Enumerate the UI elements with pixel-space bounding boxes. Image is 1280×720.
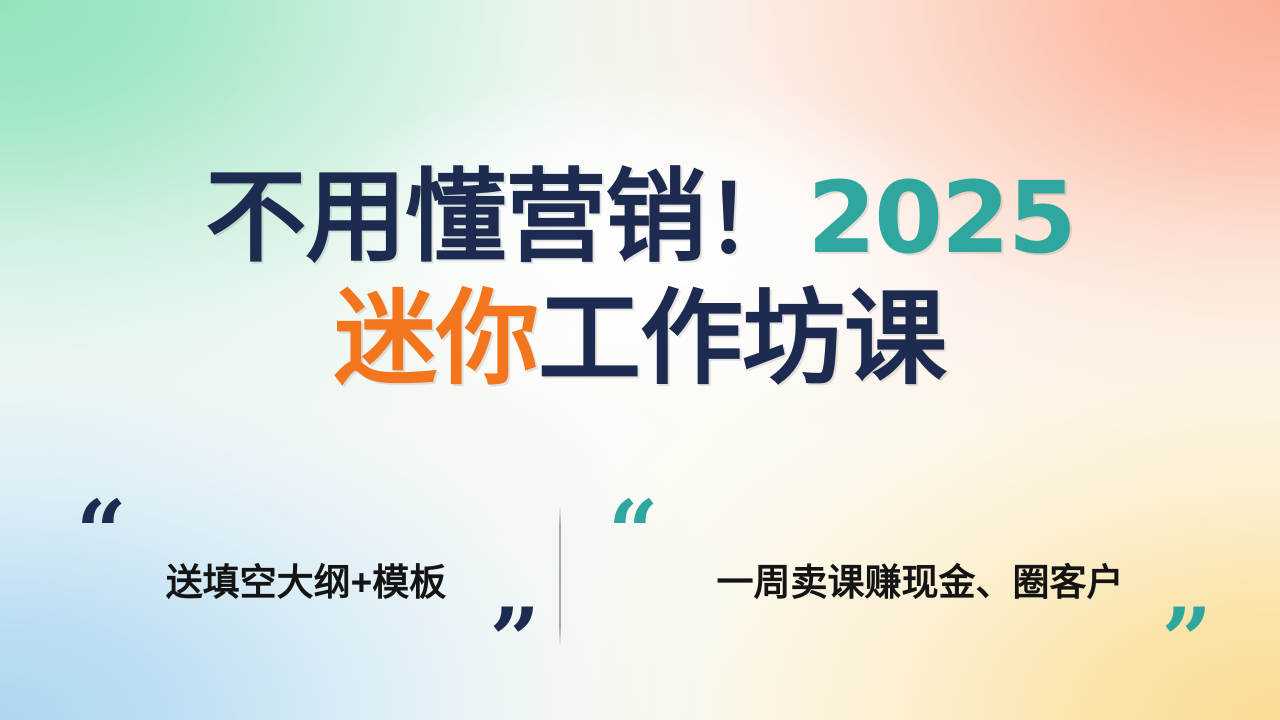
headline-subject-text: 工作坊课 bbox=[538, 281, 946, 396]
quote-text-left: 送填空大纲+模板 bbox=[166, 552, 447, 606]
headline-line-1: 不用懂营销！2025 bbox=[0, 168, 1280, 269]
quote-band: “ 送填空大纲+模板 ” “ 一周卖课赚现金、圈客户 ” bbox=[0, 494, 1280, 664]
quote-block-left: “ 送填空大纲+模板 ” bbox=[40, 494, 560, 664]
headline: 不用懂营销！2025 迷你工作坊课 bbox=[0, 168, 1280, 390]
headline-main-text: 不用懂营销 bbox=[205, 162, 705, 274]
quote-close-icon: ” bbox=[1161, 596, 1212, 684]
quote-close-icon: ” bbox=[489, 596, 540, 684]
quote-open-icon: “ bbox=[608, 488, 659, 576]
headline-line-2: 迷你工作坊课 bbox=[0, 287, 1280, 390]
quote-open-icon: “ bbox=[76, 488, 127, 576]
quote-divider bbox=[559, 506, 561, 646]
quote-block-right: “ 一周卖课赚现金、圈客户 ” bbox=[602, 494, 1222, 664]
headline-exclamation: ！ bbox=[705, 168, 797, 272]
quote-text-right: 一周卖课赚现金、圈客户 bbox=[717, 552, 1124, 606]
promo-banner: 不用懂营销！2025 迷你工作坊课 “ 送填空大纲+模板 ” “ 一周卖课赚现金… bbox=[0, 0, 1280, 720]
headline-year: 2025 bbox=[807, 161, 1074, 276]
headline-highlight-text: 迷你 bbox=[334, 281, 538, 396]
